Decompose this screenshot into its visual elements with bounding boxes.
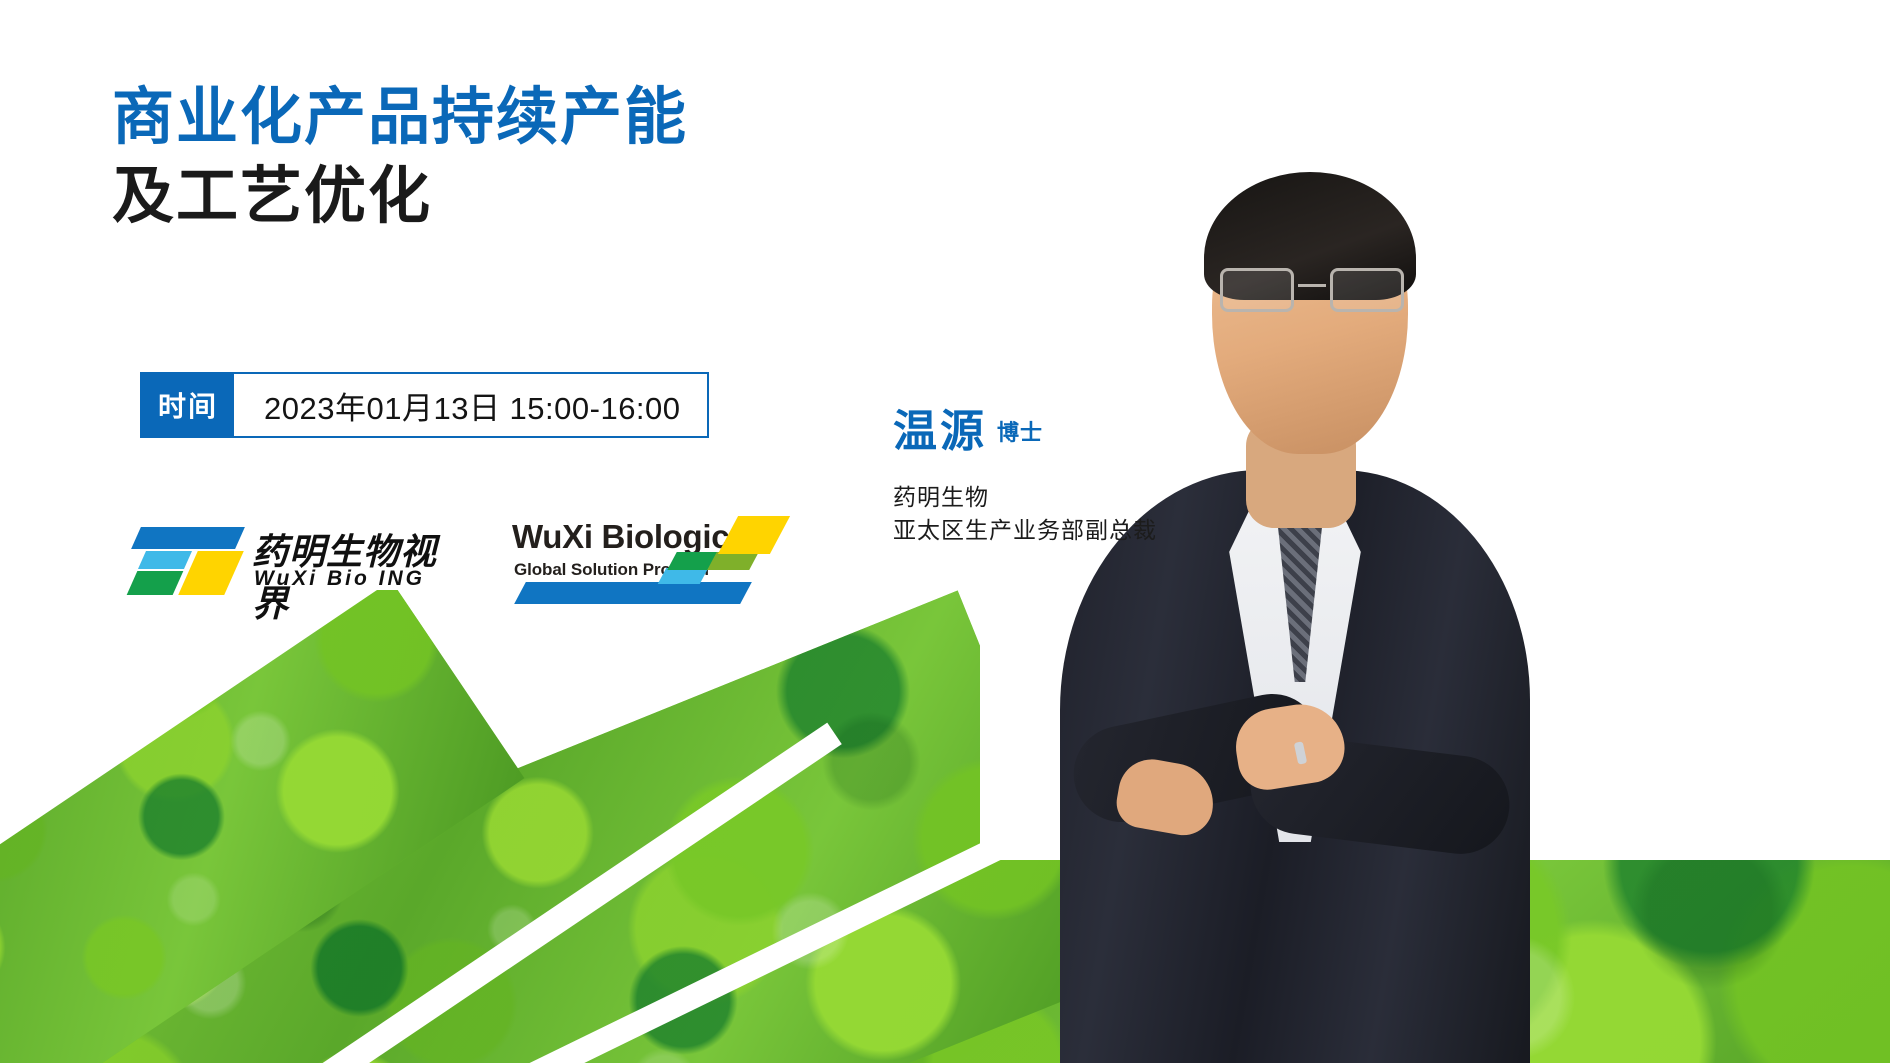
bio-ing-logo-mark	[122, 525, 244, 597]
event-time-box: 时间 2023年01月13日 15:00-16:00	[140, 372, 709, 438]
speaker-info: 温源博士 药明生物 亚太区生产业务部副总裁	[893, 395, 1213, 548]
time-value: 2023年01月13日 15:00-16:00	[234, 374, 707, 436]
speaker-name: 温源	[893, 395, 987, 459]
logo-wuxi-biologics: WuXi Biologics Global Solution Provider	[512, 518, 802, 606]
logo-wxb-name: WuXi Biologics	[512, 518, 747, 556]
speaker-role: 亚太区生产业务部副总裁	[893, 514, 1213, 547]
lens-left	[1220, 268, 1294, 312]
logo-shape-green	[127, 571, 184, 595]
eyeglasses-icon	[1218, 268, 1406, 314]
logo-wuxi-bio-ing: 药明生物视界 WuXi Bio ING	[122, 525, 442, 597]
logo-bioing-en-name: WuXi Bio ING	[254, 567, 425, 591]
poster-canvas: 商业化产品持续产能 及工艺优化 时间 2023年01月13日 15:00-16:…	[0, 0, 1890, 1063]
logo-swoosh-olive	[707, 552, 759, 570]
logo-swoosh-blue	[514, 582, 752, 604]
logo-shape-blue-bar	[131, 527, 245, 549]
logo-shape-cyan	[138, 551, 192, 569]
logo-swoosh-cyan	[658, 568, 709, 584]
title-line-2: 及工艺优化	[112, 157, 952, 236]
speaker-name-row: 温源博士	[893, 395, 1213, 459]
speaker-photo	[1000, 150, 1560, 1063]
speaker-organization: 药明生物	[893, 481, 1213, 514]
title-line-1: 商业化产品持续产能	[112, 78, 952, 157]
glasses-bridge	[1298, 284, 1326, 287]
lens-right	[1330, 268, 1404, 312]
speaker-degree: 博士	[997, 415, 1043, 447]
time-label: 时间	[142, 374, 234, 436]
page-title: 商业化产品持续产能 及工艺优化	[112, 78, 952, 237]
